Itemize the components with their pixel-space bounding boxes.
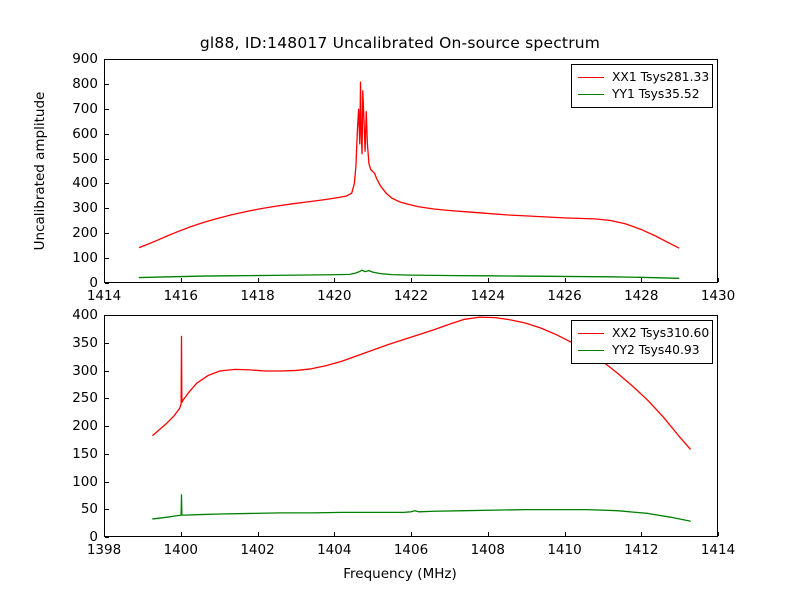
x-axis-label: Frequency (MHz) [0, 566, 800, 582]
x-tick-label: 1402 [240, 542, 274, 558]
y-tick-label: 350 [60, 335, 98, 351]
y-tick-label: 150 [60, 446, 98, 462]
x-tickmark [181, 532, 182, 536]
x-tick-label: 1426 [547, 288, 581, 304]
x-tick-label: 1412 [624, 542, 658, 558]
x-tick-label: 1424 [471, 288, 505, 304]
series-line-yy [153, 495, 690, 521]
y-tickmark [105, 454, 109, 455]
legend-color-swatch [578, 333, 604, 334]
legend-bottom[interactable]: XX2 Tsys310.60YY2 Tsys40.93 [571, 320, 713, 364]
legend-entry[interactable]: XX1 Tsys281.33 [578, 69, 705, 86]
x-tickmark [258, 532, 259, 536]
y-tickmark [105, 315, 109, 316]
x-tickmark [181, 278, 182, 282]
y-tick-label: 300 [60, 200, 98, 216]
x-tickmark [334, 278, 335, 282]
x-tickmark [565, 278, 566, 282]
x-tickmark [641, 278, 642, 282]
x-tick-label: 1428 [624, 288, 658, 304]
x-tick-label: 1408 [471, 542, 505, 558]
y-tick-label: 800 [60, 76, 98, 92]
x-tickmark [411, 532, 412, 536]
x-tickmark [104, 278, 105, 282]
x-tick-label: 1430 [701, 288, 735, 304]
x-tick-label: 1414 [87, 288, 121, 304]
legend-entry[interactable]: XX2 Tsys310.60 [578, 325, 705, 342]
x-tickmark [258, 278, 259, 282]
x-tick-label: 1414 [701, 542, 735, 558]
y-tick-label: 500 [60, 151, 98, 167]
x-tickmark [334, 532, 335, 536]
y-tickmark [105, 59, 109, 60]
y-tickmark [105, 134, 109, 135]
y-axis-label: Uncalibrated amplitude [32, 92, 48, 251]
legend-label: YY1 Tsys35.52 [612, 88, 700, 100]
x-tick-label: 1398 [87, 542, 121, 558]
y-tickmark [105, 258, 109, 259]
x-tickmark [488, 278, 489, 282]
y-tickmark [105, 159, 109, 160]
y-tickmark [105, 208, 109, 209]
y-tickmark [105, 371, 109, 372]
legend-top[interactable]: XX1 Tsys281.33YY1 Tsys35.52 [571, 64, 713, 108]
y-tickmark [105, 343, 109, 344]
y-tick-label: 400 [60, 307, 98, 323]
x-tick-label: 1416 [164, 288, 198, 304]
y-tick-label: 600 [60, 126, 98, 142]
page-title: gl88, ID:148017 Uncalibrated On-source s… [0, 34, 800, 52]
series-line-yy [139, 270, 678, 278]
y-tick-label: 100 [60, 250, 98, 266]
y-tickmark [105, 426, 109, 427]
y-tick-label: 200 [60, 418, 98, 434]
legend-color-swatch [578, 350, 604, 351]
x-tickmark [565, 532, 566, 536]
y-tickmark [105, 398, 109, 399]
y-tickmark [105, 183, 109, 184]
x-tickmark [411, 278, 412, 282]
y-tickmark [105, 482, 109, 483]
y-tick-label: 100 [60, 474, 98, 490]
y-tickmark [105, 109, 109, 110]
y-tick-label: 900 [60, 51, 98, 67]
x-tick-label: 1410 [547, 542, 581, 558]
x-tick-label: 1400 [164, 542, 198, 558]
x-tick-label: 1406 [394, 542, 428, 558]
y-tickmark [105, 283, 109, 284]
legend-color-swatch [578, 77, 604, 78]
x-tickmark [104, 532, 105, 536]
x-tick-label: 1420 [317, 288, 351, 304]
legend-label: XX2 Tsys310.60 [612, 327, 709, 339]
y-tick-label: 300 [60, 363, 98, 379]
legend-color-swatch [578, 94, 604, 95]
x-tick-label: 1404 [317, 542, 351, 558]
x-tickmark [488, 532, 489, 536]
y-tickmark [105, 509, 109, 510]
y-tickmark [105, 233, 109, 234]
y-tick-label: 50 [60, 501, 98, 517]
figure-canvas: gl88, ID:148017 Uncalibrated On-source s… [0, 0, 800, 600]
legend-label: XX1 Tsys281.33 [612, 71, 709, 83]
y-tickmark [105, 537, 109, 538]
x-tick-label: 1418 [240, 288, 274, 304]
x-tickmark [718, 532, 719, 536]
legend-entry[interactable]: YY1 Tsys35.52 [578, 86, 705, 103]
y-tickmark [105, 84, 109, 85]
x-tick-label: 1422 [394, 288, 428, 304]
x-tickmark [641, 532, 642, 536]
y-tick-label: 200 [60, 225, 98, 241]
legend-label: YY2 Tsys40.93 [612, 344, 700, 356]
y-tick-label: 400 [60, 175, 98, 191]
x-tickmark [718, 278, 719, 282]
legend-entry[interactable]: YY2 Tsys40.93 [578, 342, 705, 359]
y-tick-label: 250 [60, 390, 98, 406]
y-tick-label: 700 [60, 101, 98, 117]
